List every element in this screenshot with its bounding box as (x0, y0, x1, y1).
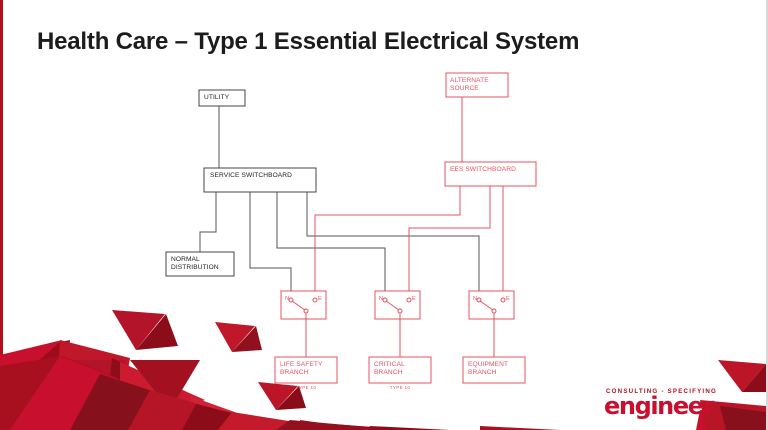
wire-service-to-ats3-normal (307, 192, 479, 291)
node-transfer-switch-1 (281, 291, 326, 319)
logo-wordmark: engineer (604, 394, 724, 418)
wire-service-to-ats2-normal (277, 192, 385, 291)
wire-service-to-ats1-normal (250, 192, 291, 291)
wire-ees-to-ats1-emergency (315, 186, 460, 291)
single-line-diagram (0, 0, 768, 430)
node-critical-branch (369, 357, 431, 383)
wire-service-to-normal-dist (200, 192, 216, 252)
node-equipment-branch (463, 357, 525, 383)
node-alternate-source (446, 73, 508, 97)
node-transfer-switch-3 (469, 291, 514, 319)
node-life-safety-branch (275, 357, 337, 383)
brand-logo: CONSULTING - SPECIFYING engineer (604, 388, 724, 420)
wire-ees-to-ats2-emergency (409, 186, 490, 291)
node-ees-switchboard (445, 162, 536, 186)
node-utility (199, 90, 245, 106)
node-normal-distribution (166, 252, 234, 276)
node-service-switchboard (204, 168, 316, 192)
slide-canvas: Health Care – Type 1 Essential Electrica… (0, 0, 768, 430)
node-transfer-switch-2 (375, 291, 420, 319)
